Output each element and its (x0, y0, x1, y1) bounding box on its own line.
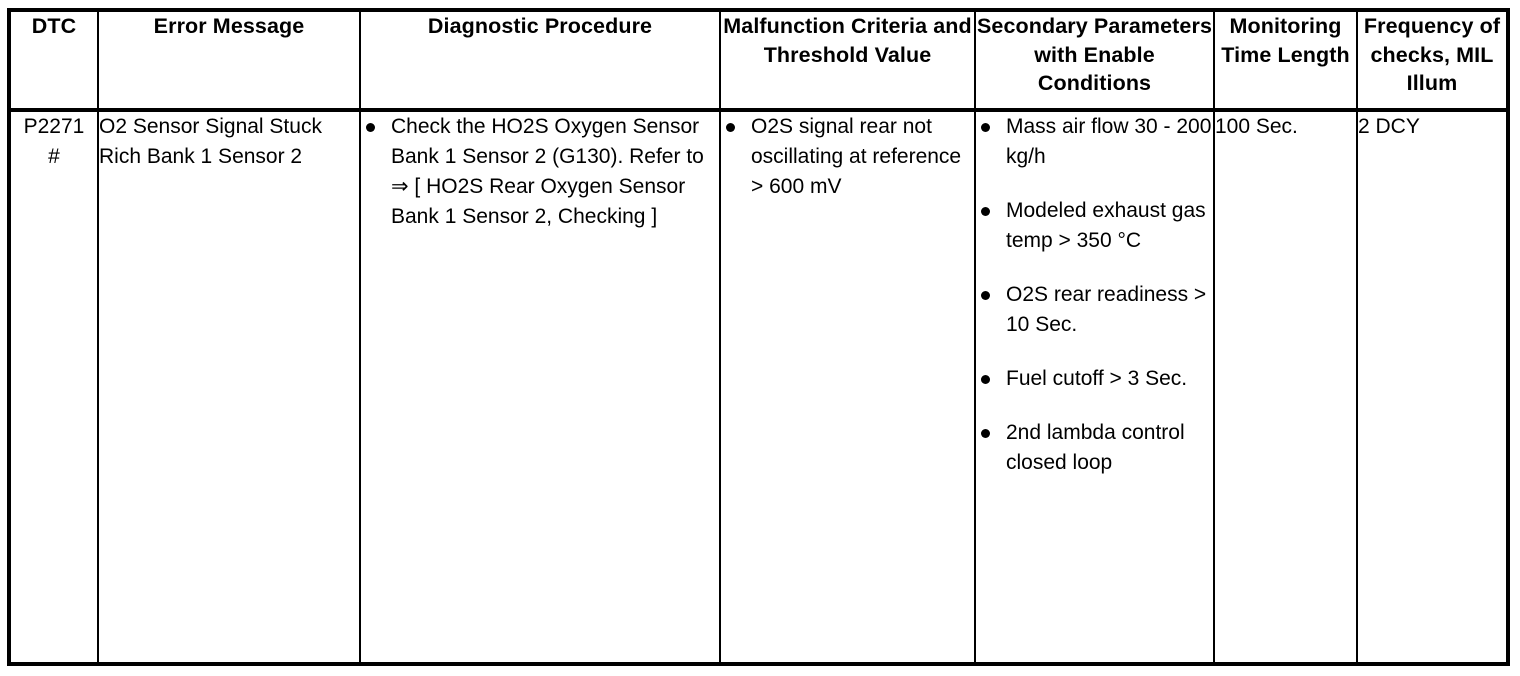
bullet-icon (726, 123, 735, 132)
dtc-code-suffix: # (11, 142, 97, 172)
monitoring-time-text: 100 Sec. (1215, 112, 1356, 142)
cell-diagnostic-procedure: Check the HO2S Oxygen Sensor Bank 1 Sens… (360, 110, 720, 664)
list-item: Check the HO2S Oxygen Sensor Bank 1 Sens… (361, 112, 719, 232)
cell-secondary-parameters: Mass air flow 30 - 200 kg/h Modeled exha… (975, 110, 1214, 664)
list-item-text: Modeled exhaust gas temp > 350 °C (1006, 199, 1206, 252)
document-page: DTC Error Message Diagnostic Procedure M… (0, 0, 1520, 676)
table-header: DTC Error Message Diagnostic Procedure M… (9, 10, 1508, 110)
table-body: P2271 # O2 Sensor Signal Stuck Rich Bank… (9, 110, 1508, 664)
list-item-text: O2S rear readiness > 10 Sec. (1006, 283, 1206, 336)
list-item: 2nd lambda control closed loop (976, 418, 1213, 478)
list-item-text: Mass air flow 30 - 200 kg/h (1006, 115, 1211, 168)
cell-frequency-of-checks: 2 DCY (1357, 110, 1508, 664)
list-item-text: Check the HO2S Oxygen Sensor Bank 1 Sens… (391, 115, 704, 228)
dtc-code-block: P2271 # (11, 112, 97, 172)
list-item-text: O2S signal rear not oscillating at refer… (751, 115, 961, 198)
malfunction-criteria-list: O2S signal rear not oscillating at refer… (721, 112, 974, 202)
list-item: Fuel cutoff > 3 Sec. (976, 364, 1213, 394)
diagnostic-procedure-list: Check the HO2S Oxygen Sensor Bank 1 Sens… (361, 112, 719, 232)
bullet-icon (981, 123, 990, 132)
bullet-icon (981, 375, 990, 384)
cell-dtc: P2271 # (9, 110, 98, 664)
error-message-text: O2 Sensor Signal Stuck Rich Bank 1 Senso… (99, 112, 359, 172)
list-item: O2S rear readiness > 10 Sec. (976, 280, 1213, 340)
column-header-frequency-of-checks: Frequency of checks, MIL Illum (1357, 10, 1508, 110)
table-row: P2271 # O2 Sensor Signal Stuck Rich Bank… (9, 110, 1508, 664)
column-header-secondary-parameters: Secondary Parameters with Enable Conditi… (975, 10, 1214, 110)
list-item: O2S signal rear not oscillating at refer… (721, 112, 974, 202)
list-item: Modeled exhaust gas temp > 350 °C (976, 196, 1213, 256)
cell-malfunction-criteria: O2S signal rear not oscillating at refer… (720, 110, 975, 664)
list-item: Mass air flow 30 - 200 kg/h (976, 112, 1213, 172)
column-header-diagnostic-procedure: Diagnostic Procedure (360, 10, 720, 110)
column-header-dtc: DTC (9, 10, 98, 110)
frequency-of-checks-text: 2 DCY (1358, 112, 1506, 142)
bullet-icon (981, 291, 990, 300)
dtc-code: P2271 (11, 112, 97, 142)
column-header-monitoring-time: Monitoring Time Length (1214, 10, 1357, 110)
bullet-icon (981, 429, 990, 438)
list-item-text: Fuel cutoff > 3 Sec. (1006, 367, 1187, 390)
cell-monitoring-time: 100 Sec. (1214, 110, 1357, 664)
table-header-row: DTC Error Message Diagnostic Procedure M… (9, 10, 1508, 110)
bullet-icon (981, 207, 990, 216)
column-header-error-message: Error Message (98, 10, 360, 110)
column-header-malfunction-criteria: Malfunction Criteria and Threshold Value (720, 10, 975, 110)
secondary-parameters-list: Mass air flow 30 - 200 kg/h Modeled exha… (976, 112, 1213, 478)
cell-error-message: O2 Sensor Signal Stuck Rich Bank 1 Senso… (98, 110, 360, 664)
dtc-diagnostic-table: DTC Error Message Diagnostic Procedure M… (7, 8, 1510, 666)
bullet-icon (366, 123, 375, 132)
list-item-text: 2nd lambda control closed loop (1006, 421, 1185, 474)
